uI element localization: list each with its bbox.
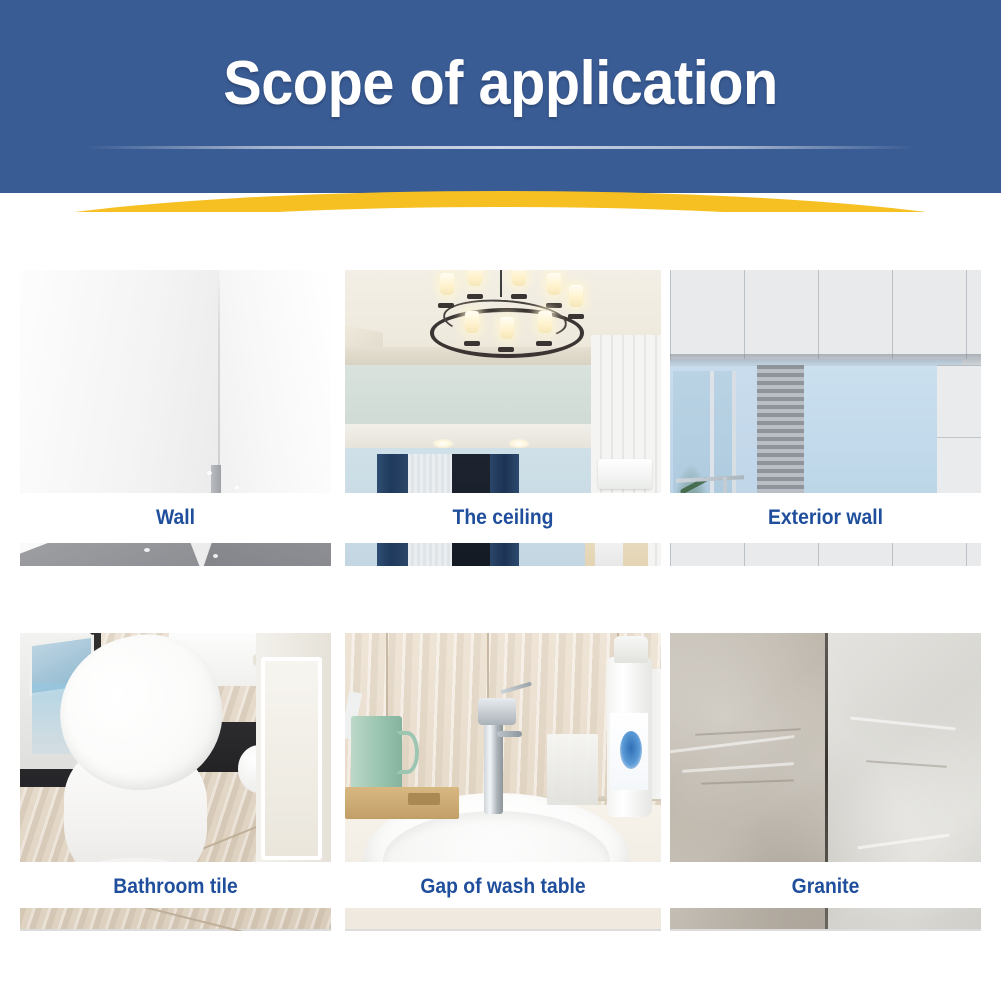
scene-wall-corner-continued [20, 543, 331, 566]
curtain-blue-left [377, 454, 409, 493]
scene-granite-slabs [670, 633, 981, 862]
corner-post [211, 465, 221, 493]
gallery-item-wash-table[interactable]: Gap of wash table [345, 633, 661, 931]
chandelier-bulb-cap [498, 347, 514, 352]
curtain-sheer [408, 543, 452, 566]
photo-bathroom-tile [20, 633, 331, 862]
downlight [433, 439, 453, 448]
scene-exterior-facade [670, 270, 981, 493]
curtain-blue-right [490, 543, 518, 566]
application-scope-page: Scope of application [0, 0, 1001, 1001]
louver-vent [757, 365, 804, 493]
bamboo-tray-slot [408, 793, 440, 805]
floor-speck [213, 554, 218, 558]
gallery-item-exterior-wall[interactable]: Exterior wall [670, 270, 981, 566]
photo-strip-wash-table [345, 908, 661, 931]
faucet-head [478, 698, 516, 725]
scene-ceiling-chandelier [345, 270, 661, 493]
tile-grain [20, 908, 331, 929]
chandelier-bulb-cap [464, 341, 480, 346]
gallery-item-granite[interactable]: Granite [670, 633, 981, 931]
chandelier-bulb-cap [438, 303, 454, 308]
chandelier-bulb [500, 317, 514, 339]
gallery-grid: Wall [0, 0, 1001, 1001]
wall-surface-right [219, 270, 331, 493]
photo-wall [20, 270, 331, 493]
floor-speck [207, 471, 212, 475]
chandelier-bulb-cap [536, 341, 552, 346]
chandelier-bulb-cap [568, 314, 584, 319]
window-dark [452, 543, 490, 566]
granite-slab-seam [825, 633, 828, 862]
chandelier-bulb-cap [467, 294, 483, 299]
gallery-item-wall[interactable]: Wall [20, 270, 331, 566]
chandelier-bulb [547, 273, 561, 295]
green-cup [351, 716, 402, 793]
soap-dispenser-pump [614, 636, 649, 663]
scene-granite-continued [670, 908, 981, 929]
facade-pillar [937, 365, 981, 493]
floor-speck [235, 486, 239, 489]
handrail-post [723, 477, 727, 493]
chandelier-bulb [468, 270, 482, 286]
caption-bathroom-tile: Bathroom tile [32, 874, 318, 900]
gallery-item-bathroom-tile[interactable]: Bathroom tile [20, 633, 331, 931]
curtain-blue-right [490, 454, 518, 493]
photo-wash-table [345, 633, 661, 862]
photo-ceiling [345, 270, 661, 493]
plastic-tumbler [547, 734, 598, 805]
chandelier-bulb-cap [546, 303, 562, 308]
chandelier-bulb [512, 270, 526, 286]
curtain-blue-left [377, 543, 409, 566]
chandelier-bulb [569, 285, 583, 307]
stone-cladding-band [670, 270, 981, 359]
soffit [345, 424, 591, 448]
stone-band-shadow [670, 354, 981, 366]
gallery-item-ceiling[interactable]: The ceiling [345, 270, 661, 566]
bamboo-tray [345, 787, 459, 820]
scene-bathroom-continued [20, 908, 331, 929]
caption-granite: Granite [682, 874, 968, 900]
faucet-spout [497, 731, 522, 737]
downlight [509, 439, 529, 448]
caption-exterior-wall: Exterior wall [682, 505, 968, 531]
wall-corner-seam [218, 270, 220, 483]
chandelier-rod [500, 270, 502, 297]
caption-wash-table: Gap of wash table [358, 874, 649, 900]
photo-strip-exterior-wall [670, 543, 981, 566]
scene-wash-basin [345, 633, 661, 862]
photo-strip-ceiling [345, 543, 661, 566]
chandelier-bulb-cap [511, 294, 527, 299]
photo-strip-bathroom-tile [20, 908, 331, 931]
counter-top [345, 908, 661, 929]
photo-granite [670, 633, 981, 862]
chandelier-bulb [440, 273, 454, 295]
chandelier-bulb [465, 311, 479, 333]
cabinet-door-panel [261, 657, 322, 860]
stone-cladding-band [670, 543, 981, 566]
cabinet-door [595, 543, 623, 566]
chandelier-bulb [538, 311, 552, 333]
wall-surface-left [20, 270, 219, 493]
curtain-sheer [408, 454, 452, 493]
soap-bottle-label-art [620, 731, 642, 769]
air-conditioner [598, 459, 652, 489]
scene-ceiling-continued [345, 543, 661, 566]
glass-panel [804, 365, 938, 493]
photo-strip-granite [670, 908, 981, 931]
window-dark [452, 454, 490, 493]
scene-wall-corner [20, 270, 331, 493]
photo-exterior-wall [670, 270, 981, 493]
scene-wash-basin-continued [345, 908, 661, 929]
scene-exterior-continued [670, 543, 981, 566]
photo-strip-wall [20, 543, 331, 566]
caption-wall: Wall [32, 505, 318, 531]
caption-ceiling: The ceiling [358, 505, 649, 531]
granite-slab-seam [825, 908, 828, 929]
scene-bathroom [20, 633, 331, 862]
